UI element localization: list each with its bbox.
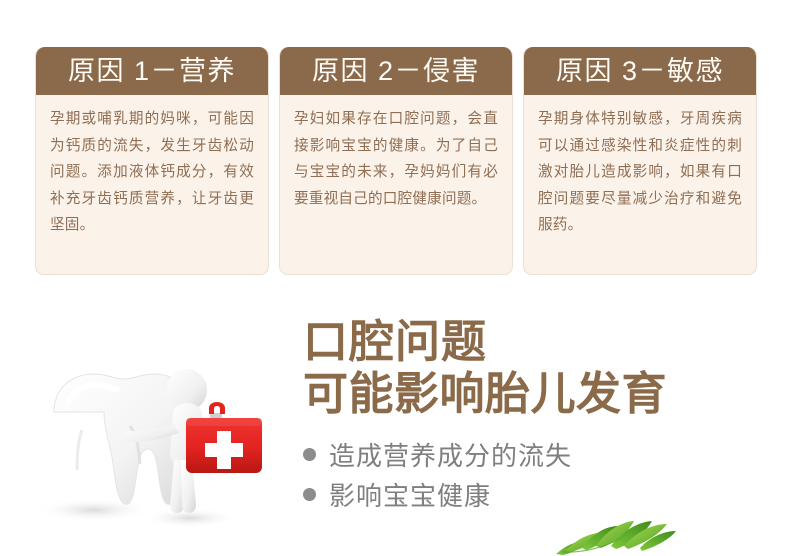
bullet-dot-icon bbox=[303, 448, 316, 461]
reason-cards-row: 原因 1－营养 孕期或哺乳期的妈咪，可能因为钙质的流失，发生牙齿松动问题。添加液… bbox=[35, 47, 757, 275]
reason-card-3-body: 孕期身体特别敏感，牙周疾病可以通过感染性和炎症性的刺激对胎儿造成影响，如果有口腔… bbox=[524, 95, 756, 274]
promo-bullet-label: 造成营养成分的流失 bbox=[329, 436, 572, 473]
mint-leaf-sprig-decoration bbox=[556, 508, 684, 556]
reason-card-1: 原因 1－营养 孕期或哺乳期的妈咪，可能因为钙质的流失，发生牙齿松动问题。添加液… bbox=[35, 47, 269, 275]
reason-card-2-body: 孕妇如果存在口腔问题，会直接影响宝宝的健康。为了自己与宝宝的未来，孕妈妈们有必要… bbox=[280, 95, 512, 274]
promo-block: 口腔问题 可能影响胎儿发育 造成营养成分的流失 影响宝宝健康 bbox=[303, 316, 773, 514]
reason-card-2-header: 原因 2－侵害 bbox=[280, 47, 512, 95]
reason-card-1-text: 孕期或哺乳期的妈咪，可能因为钙质的流失，发生牙齿松动问题。添加液体钙成分，有效补… bbox=[50, 106, 254, 239]
mint-leaf-icon bbox=[556, 521, 676, 555]
reason-card-2: 原因 2－侵害 孕妇如果存在口腔问题，会直接影响宝宝的健康。为了自己与宝宝的未来… bbox=[279, 47, 513, 275]
reason-card-3: 原因 3－敏感 孕期身体特别敏感，牙周疾病可以通过感染性和炎症性的刺激对胎儿造成… bbox=[523, 47, 757, 275]
promo-bullet-label: 影响宝宝健康 bbox=[329, 476, 491, 513]
list-item: 影响宝宝健康 bbox=[303, 474, 773, 514]
promo-headline: 口腔问题 可能影响胎儿发育 bbox=[303, 316, 773, 420]
reason-card-3-text: 孕期身体特别敏感，牙周疾病可以通过感染性和炎症性的刺激对胎儿造成影响，如果有口腔… bbox=[538, 106, 742, 239]
reason-card-1-header: 原因 1－营养 bbox=[36, 47, 268, 95]
reason-card-3-header: 原因 3－敏感 bbox=[524, 47, 756, 95]
tooth-shadow bbox=[36, 498, 152, 522]
reason-card-2-title: 原因 2－侵害 bbox=[312, 58, 480, 85]
list-item: 造成营养成分的流失 bbox=[303, 434, 773, 474]
promo-headline-line-2: 可能影响胎儿发育 bbox=[303, 368, 773, 420]
reason-card-1-body: 孕期或哺乳期的妈咪，可能因为钙质的流失，发生牙齿松动问题。添加液体钙成分，有效补… bbox=[36, 95, 268, 274]
reason-card-2-text: 孕妇如果存在口腔问题，会直接影响宝宝的健康。为了自己与宝宝的未来，孕妈妈们有必要… bbox=[294, 106, 498, 212]
reason-card-3-title: 原因 3－敏感 bbox=[556, 58, 724, 85]
tooth-and-first-aid-figure-illustration bbox=[22, 352, 290, 547]
promo-bullet-list: 造成营养成分的流失 影响宝宝健康 bbox=[303, 434, 773, 514]
bullet-dot-icon bbox=[303, 488, 316, 501]
reason-card-1-title: 原因 1－营养 bbox=[68, 58, 236, 85]
promo-headline-line-1: 口腔问题 bbox=[303, 316, 773, 368]
